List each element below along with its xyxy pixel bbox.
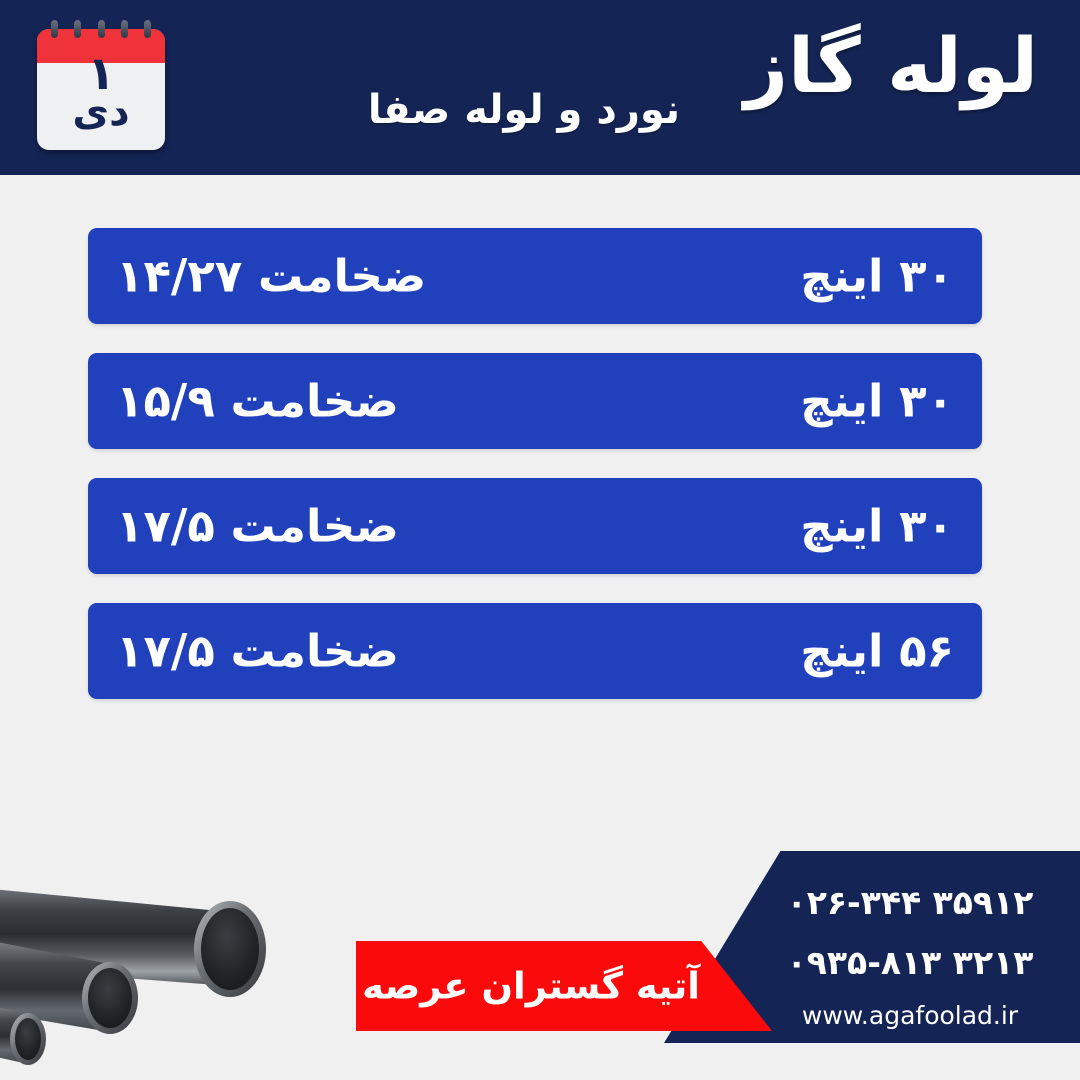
calendar-ring <box>74 20 81 38</box>
spec-thickness: ضخامت ۱۵/۹ <box>116 379 399 424</box>
spec-row[interactable]: ۳۰ اینچ ضخامت ۱۷/۵ <box>88 478 982 574</box>
spec-row[interactable]: ۵۶ اینچ ضخامت ۱۷/۵ <box>88 603 982 699</box>
calendar-ring <box>144 20 151 38</box>
page-title: لوله گاز <box>744 18 1038 113</box>
spec-thickness: ضخامت ۱۷/۵ <box>116 504 399 549</box>
calendar-month: دی <box>37 92 165 132</box>
spec-size: ۳۰ اینچ <box>800 504 954 549</box>
spec-size: ۳۰ اینچ <box>800 254 954 299</box>
spec-row[interactable]: ۳۰ اینچ ضخامت ۱۵/۹ <box>88 353 982 449</box>
calendar-ring <box>51 20 58 38</box>
spec-thickness: ضخامت ۱۴/۲۷ <box>116 254 426 299</box>
spec-thickness: ضخامت ۱۷/۵ <box>116 629 399 674</box>
spec-size: ۳۰ اینچ <box>800 379 954 424</box>
phone-number-mobile[interactable]: ۰۹۳۵-۸۱۳ ۳۲۱۳ <box>760 946 1060 979</box>
brand-name: آتیه گستران عرصه فولاد <box>370 968 700 1005</box>
calendar-ring <box>121 20 128 38</box>
spec-size: ۵۶ اینچ <box>800 629 954 674</box>
brand-banner: آتیه گستران عرصه فولاد <box>356 941 772 1031</box>
steel-pipes-image <box>0 856 332 1080</box>
phone-number-landline[interactable]: ۰۲۶-۳۴۴ ۳۵۹۱۲ <box>760 886 1060 919</box>
spec-row[interactable]: ۳۰ اینچ ضخامت ۱۴/۲۷ <box>88 228 982 324</box>
calendar-rings <box>51 20 151 36</box>
calendar-icon: ۱ دی <box>37 20 165 150</box>
page-subtitle: نورد و لوله صفا <box>368 86 680 134</box>
spec-list: ۳۰ اینچ ضخامت ۱۴/۲۷ ۳۰ اینچ ضخامت ۱۵/۹ ۳… <box>88 228 982 728</box>
calendar-ring <box>98 20 105 38</box>
website-url[interactable]: www.agafoolad.ir <box>760 1003 1060 1028</box>
header-bar: ۱ دی لوله گاز نورد و لوله صفا <box>0 0 1080 175</box>
